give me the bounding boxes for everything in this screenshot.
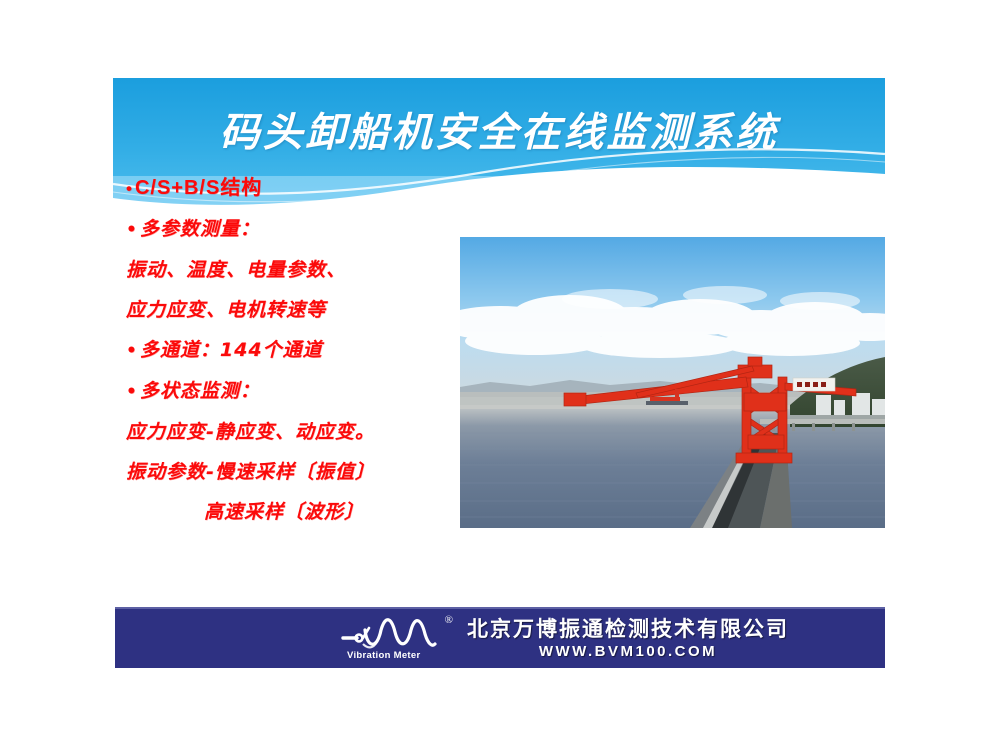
list-item: 多通道：144个通道	[126, 330, 466, 371]
list-item: 应力应变、电机转速等	[126, 290, 466, 330]
footer-bar: ® Vibration Meter 北京万博振通检测技术有限公司 WWW.BVM…	[115, 607, 885, 668]
footer-top-rule	[115, 607, 885, 609]
logo-caption: Vibration Meter	[347, 650, 420, 661]
registered-trademark-icon: ®	[445, 614, 453, 626]
list-item: 振动、温度、电量参数、	[126, 250, 466, 290]
vibration-meter-logo-icon: ® Vibration Meter	[339, 614, 457, 662]
company-name: 北京万博振通检测技术有限公司	[467, 616, 789, 642]
slide-canvas: 码头卸船机安全在线监测系统 C/S+B/S结构 多参数测量： 振动、温度、电量参…	[0, 0, 1000, 750]
list-item: 多参数测量：	[126, 209, 466, 250]
bullet-list: C/S+B/S结构 多参数测量： 振动、温度、电量参数、 应力应变、电机转速等 …	[126, 168, 466, 532]
footer-text-group: 北京万博振通检测技术有限公司 WWW.BVM100.COM	[467, 616, 789, 661]
company-website: WWW.BVM100.COM	[467, 642, 789, 661]
list-item: 多状态监测：	[126, 371, 466, 412]
harbor-ship-unloader-photo	[460, 237, 885, 528]
footer-content: ® Vibration Meter 北京万博振通检测技术有限公司 WWW.BVM…	[339, 612, 789, 664]
list-item: 应力应变-静应变、动应变。	[126, 412, 466, 452]
list-item: 振动参数-慢速采样〔振值〕	[126, 452, 466, 492]
list-item: C/S+B/S结构	[126, 168, 466, 209]
list-item: 高速采样〔波形〕	[126, 492, 466, 532]
